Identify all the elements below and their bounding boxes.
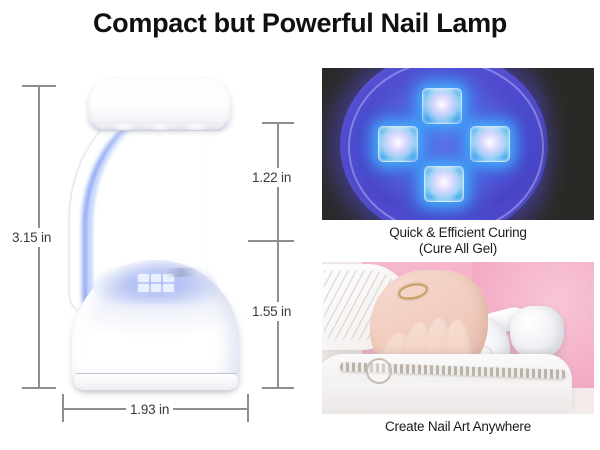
dimension-label-upper-height: 1.22 in bbox=[248, 168, 295, 187]
dimension-tick-bottom-left bbox=[22, 387, 56, 389]
dimension-label-total-height: 3.15 in bbox=[8, 228, 55, 247]
led-bead-top bbox=[422, 88, 462, 124]
dimension-tick-bottom-right bbox=[262, 387, 294, 389]
lamp-head-bead bbox=[148, 124, 172, 130]
dimension-label-lower-height: 1.55 in bbox=[248, 302, 295, 321]
product-image-nail-lamp bbox=[60, 78, 240, 408]
lamp-base-foot bbox=[74, 374, 238, 390]
dimension-tick-middle-right bbox=[248, 240, 294, 242]
feature-card-portability: Create Nail Art Anywhere bbox=[322, 262, 594, 435]
caption-curing: Quick & Efficient Curing (Cure All Gel) bbox=[322, 225, 594, 257]
lamp-brand-logo bbox=[165, 268, 197, 277]
photo-led-beads bbox=[322, 68, 594, 220]
product-diagram-panel: 3.15 in 1.22 in 1.55 in 1.93 in bbox=[0, 64, 318, 450]
led-bead-bottom bbox=[424, 166, 464, 202]
caption-portability: Create Nail Art Anywhere bbox=[322, 419, 594, 435]
feature-card-curing: Quick & Efficient Curing (Cure All Gel) bbox=[322, 68, 594, 257]
dimension-tick-left-bottom bbox=[62, 394, 64, 422]
led-bead-right bbox=[470, 126, 510, 162]
photo-vignette bbox=[540, 68, 594, 220]
caption-curing-line1: Quick & Efficient Curing bbox=[322, 225, 594, 241]
lamp-head-bead bbox=[184, 124, 208, 130]
page-title: Compact but Powerful Nail Lamp bbox=[0, 8, 600, 39]
handbag-lower-panel bbox=[322, 382, 572, 414]
dimension-tick-top-left bbox=[22, 85, 56, 87]
photo-hand-with-lamp bbox=[322, 262, 594, 414]
lamp-head-bead bbox=[112, 124, 136, 130]
caption-curing-line2: (Cure All Gel) bbox=[322, 241, 594, 257]
dimension-tick-top-right bbox=[262, 122, 294, 124]
dimension-label-base-width: 1.93 in bbox=[126, 400, 173, 419]
led-bead-left bbox=[378, 126, 418, 162]
dimension-tick-right-bottom bbox=[247, 394, 249, 422]
infographic-canvas: Compact but Powerful Nail Lamp 3.15 bbox=[0, 0, 600, 450]
lamp-head-in-photo bbox=[510, 306, 564, 358]
handbag-zipper-pull bbox=[366, 358, 392, 384]
caption-portability-line1: Create Nail Art Anywhere bbox=[322, 419, 594, 435]
